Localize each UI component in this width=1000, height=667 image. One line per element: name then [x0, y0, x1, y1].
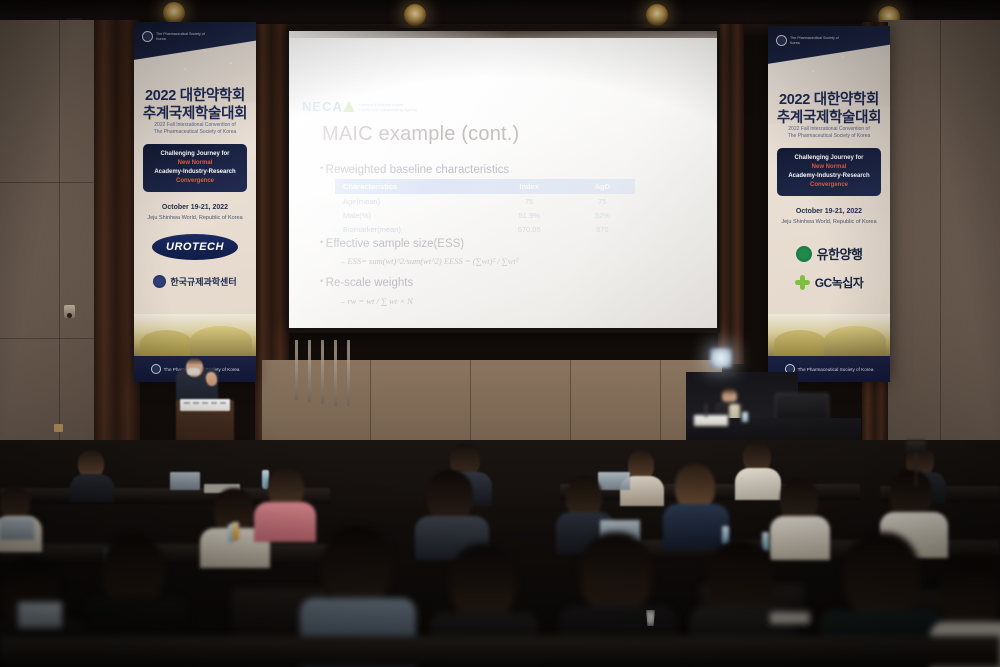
slide-title: MAIC example (cont.) — [322, 123, 519, 146]
table-cell-index: 670.05 — [489, 222, 570, 236]
society-seal-icon — [142, 31, 153, 42]
banner-title-en-1: 2022 Fall Interzational Convention of — [134, 122, 256, 129]
banner-date: October 19-21, 2022 — [768, 208, 890, 215]
wall-camera-icon — [64, 305, 75, 318]
wall-slat — [321, 340, 324, 404]
attendee-head — [450, 544, 516, 620]
attendee-head — [0, 486, 30, 520]
attendee-head — [940, 560, 1000, 628]
banner-title-en-2: The Pharmaceutical Society of Korea — [134, 129, 256, 136]
slide-subbullet-ess-formula: ESS= sum(wt)^2/sum(wt^2) EESS = (∑wt)² /… — [341, 256, 518, 266]
attendee-body — [70, 474, 114, 502]
banner-left: The Pharmaceutical Society of Korea 2022… — [134, 22, 256, 382]
wall-slat — [347, 340, 350, 406]
banner-tagline-4: Convergence — [777, 181, 881, 190]
neca-logo-subtitle: National Evidence-based Healthcare Colla… — [359, 102, 421, 112]
attendee-body — [254, 502, 316, 542]
slide-bullet-1: Reweighted baseline characteristics — [320, 163, 509, 176]
banner-tagline-2: New Normal — [777, 163, 881, 172]
table-cell-agd: 75 — [570, 194, 635, 208]
table-row: Biomarker(mean) 670.05 670 — [335, 222, 635, 236]
table-header-row: Characteristics Index AgD — [335, 179, 635, 194]
table-cell-agd: 52% — [570, 208, 635, 222]
screen-top-band — [289, 31, 717, 38]
banner-tagline-4: Convergence — [143, 177, 247, 186]
ceiling-light — [163, 2, 185, 24]
banner-date: October 19-21, 2022 — [134, 204, 256, 211]
sponsor-yuhan-label: 유한양행 — [817, 244, 863, 263]
table-header-agd: AgD — [570, 179, 635, 194]
attendee-body — [735, 468, 781, 500]
table-row: Age(mean) 75 75 — [335, 194, 635, 208]
attendee-head — [427, 470, 473, 522]
projection-screen[interactable]: NECA National Evidence-based Healthcare … — [289, 31, 717, 328]
water-bottle — [762, 532, 769, 551]
banner-place: Jeju Shinhwa World, Republic of Korea — [134, 215, 256, 221]
desk — [0, 636, 1000, 667]
laptop — [170, 472, 200, 490]
slide-bullet-3: Re-scale weights — [320, 276, 413, 289]
attendee-head — [844, 532, 920, 618]
banner-tagline-1: Challenging Journey for — [777, 154, 881, 163]
sponsor-gc-label: GC녹십자 — [815, 274, 864, 291]
wall-seam — [59, 20, 60, 440]
banner-title-en-2: The Pharmaceutical Society of Korea — [768, 133, 890, 140]
society-mark-label: The Pharmaceutical Society of Korea — [156, 32, 212, 41]
krc-mark-icon — [153, 275, 166, 288]
table-cell-characteristic: Biomarker(mean) — [335, 222, 489, 236]
microphone-stand — [705, 404, 707, 417]
banner-footer-label: The Pharmaceutical Society of Korea — [798, 367, 874, 372]
wall-slat — [308, 340, 311, 402]
decor-dot — [184, 68, 186, 70]
wall-slat — [334, 340, 337, 406]
banner-title-kr-2: 추계국제학술대회 — [134, 102, 256, 123]
slide-subbullet-rescale-formula: rw = wt / ∑ wt × N — [341, 296, 413, 306]
neca-logo-text: NECA — [302, 99, 343, 114]
attendee-head — [322, 526, 392, 606]
paper-sheet — [770, 612, 810, 624]
audience-area — [0, 440, 1000, 667]
attendee-head — [580, 532, 652, 614]
banner-tagline-3: Academy-Industry-Research — [143, 168, 247, 177]
society-mark-label: The Pharmaceutical Society of Korea — [790, 36, 846, 45]
podium-sign — [180, 399, 230, 411]
sponsor-krc-label-kr: 한국규제과학센터 — [170, 277, 236, 287]
wall-slat — [295, 340, 298, 400]
banner-tagline-3: Academy-Industry-Research — [777, 172, 881, 181]
society-seal-icon — [776, 35, 787, 46]
ceiling-light — [646, 4, 668, 26]
neca-chevron-icon — [343, 101, 355, 112]
sponsor-logo-gc: GC녹십자 — [768, 274, 890, 291]
table-cell-characteristic: Age(mean) — [335, 194, 489, 208]
baseline-characteristics-table: Characteristics Index AgD Age(mean) 75 7… — [335, 179, 635, 236]
laptop — [18, 602, 62, 628]
banner-tagline-1: Challenging Journey for — [143, 150, 247, 159]
speaker-face-mask — [187, 368, 200, 375]
banner-tagline-box: Challenging Journey for New Normal Acade… — [143, 144, 247, 192]
table-header-index: Index — [489, 179, 570, 194]
table-header-characteristics: Characteristics — [335, 179, 489, 194]
table-cell-agd: 670 — [570, 222, 635, 236]
wall-outlet — [54, 424, 63, 432]
neca-logo: NECA National Evidence-based Healthcare … — [302, 99, 421, 114]
slide-bullet-2: Effective sample size(ESS) — [320, 237, 464, 250]
table-row: Male(%) 51.9% 52% — [335, 208, 635, 222]
banner-title-en-1: 2022 Fall Interzational Convention of — [768, 126, 890, 133]
drink-bottle — [232, 522, 239, 541]
banner-tagline-box: Challenging Journey for New Normal Acade… — [777, 148, 881, 196]
decor-dot — [230, 62, 232, 64]
conference-hall-photo: NECA National Evidence-based Healthcare … — [0, 0, 1000, 667]
sponsor-logo-krc: 한국규제과학센터 — [134, 272, 256, 290]
sponsor-logo-urotech: UROTECH — [152, 234, 238, 260]
society-mark: The Pharmaceutical Society of Korea — [776, 35, 846, 46]
wood-column — [718, 24, 744, 364]
banner-place: Jeju Shinhwa World, Republic of Korea — [768, 219, 890, 225]
attendee-head — [708, 540, 772, 614]
decor-dot — [842, 56, 844, 58]
camera-tripod — [915, 452, 917, 486]
banner-right: The Pharmaceutical Society of Korea 2022… — [768, 26, 890, 382]
banner-tagline-2: New Normal — [143, 159, 247, 168]
attendee-body — [770, 516, 830, 560]
laptop — [598, 472, 630, 490]
table-cell-characteristic: Male(%) — [335, 208, 489, 222]
sponsor-urotech-label: UROTECH — [166, 241, 224, 253]
table-cell-index: 75 — [489, 194, 570, 208]
water-cup — [742, 412, 748, 422]
projector-light — [710, 348, 732, 368]
table-cell-index: 51.9% — [489, 208, 570, 222]
banner-title-kr-2: 추계국제학술대회 — [768, 106, 890, 127]
decor-dot — [812, 70, 814, 72]
attendee-head — [890, 470, 932, 518]
sponsor-logo-yuhan: 유한양행 — [768, 244, 890, 263]
ceiling-light — [404, 4, 426, 26]
desk — [0, 544, 350, 564]
attendee-head — [102, 534, 164, 604]
gc-cross-icon — [795, 275, 810, 290]
laptop — [0, 518, 34, 540]
decor-dot — [204, 50, 206, 52]
banner-scenery-art — [768, 314, 890, 356]
attendee-body — [663, 504, 729, 550]
yuhan-mark-icon — [796, 246, 812, 262]
society-mark: The Pharmaceutical Society of Korea — [142, 31, 212, 42]
name-plate — [694, 415, 728, 426]
banner-scenery-art — [134, 314, 256, 356]
wall-seam — [940, 20, 941, 450]
society-seal-icon — [151, 364, 161, 374]
